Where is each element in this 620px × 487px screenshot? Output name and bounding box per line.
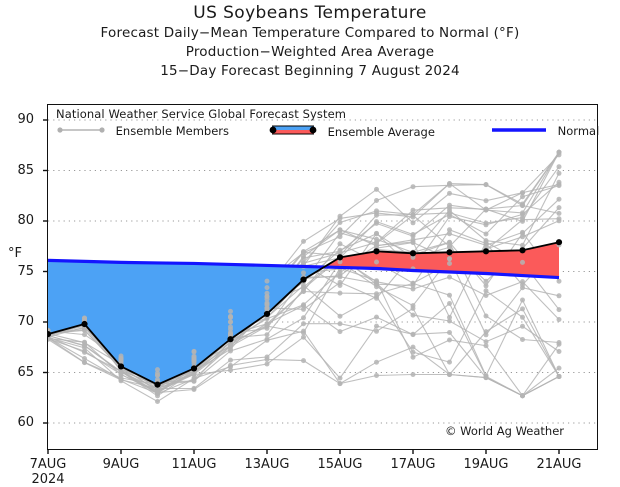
legend-label-normal: Normal <box>558 124 600 138</box>
y-tick-85: 85 <box>4 163 34 178</box>
chart-page: US Soybeans Temperature Forecast Daily−M… <box>0 0 620 484</box>
legend-source-label: National Weather Service Global Forecast… <box>56 107 586 121</box>
x-tick-21aug: 21AUG <box>529 457 589 472</box>
y-tick-75: 75 <box>4 264 34 279</box>
legend: National Weather Service Global Forecast… <box>56 107 586 140</box>
legend-item-normal[interactable]: Normal <box>490 123 599 138</box>
x-tick-19aug: 19AUG <box>456 457 516 472</box>
gray-line-dots-swatch <box>56 124 106 138</box>
x-tick-15aug: 15AUG <box>310 457 370 472</box>
legend-item-ensemble-members[interactable]: Ensemble Members <box>56 123 229 138</box>
chart-canvas <box>0 0 620 484</box>
legend-item-ensemble-average[interactable]: Ensemble Average <box>268 123 435 140</box>
legend-row: Ensemble Members Ensemble Average <box>56 123 586 140</box>
x-tick-13aug: 13AUG <box>237 457 297 472</box>
legend-label-ensemble-average: Ensemble Average <box>328 125 435 139</box>
y-tick-80: 80 <box>4 213 34 228</box>
y-tick-65: 65 <box>4 365 34 380</box>
x-tick-11aug: 11AUG <box>164 457 224 472</box>
x-tick-17aug: 17AUG <box>383 457 443 472</box>
x-tick-7aug: 7AUG <box>18 457 78 472</box>
red-blue-band-swatch <box>268 123 318 140</box>
blue-line-swatch <box>490 124 548 138</box>
x-tick-9aug: 9AUG <box>91 457 151 472</box>
y-tick-90: 90 <box>4 112 34 127</box>
copyright-credit: © World Ag Weather <box>445 424 564 438</box>
y-tick-70: 70 <box>4 314 34 329</box>
x-axis-year: 2024 <box>18 472 78 487</box>
x-axis-ticks <box>48 449 559 454</box>
legend-label-ensemble-members: Ensemble Members <box>116 124 229 138</box>
y-axis-ticks <box>43 120 48 423</box>
y-tick-60: 60 <box>4 415 34 430</box>
